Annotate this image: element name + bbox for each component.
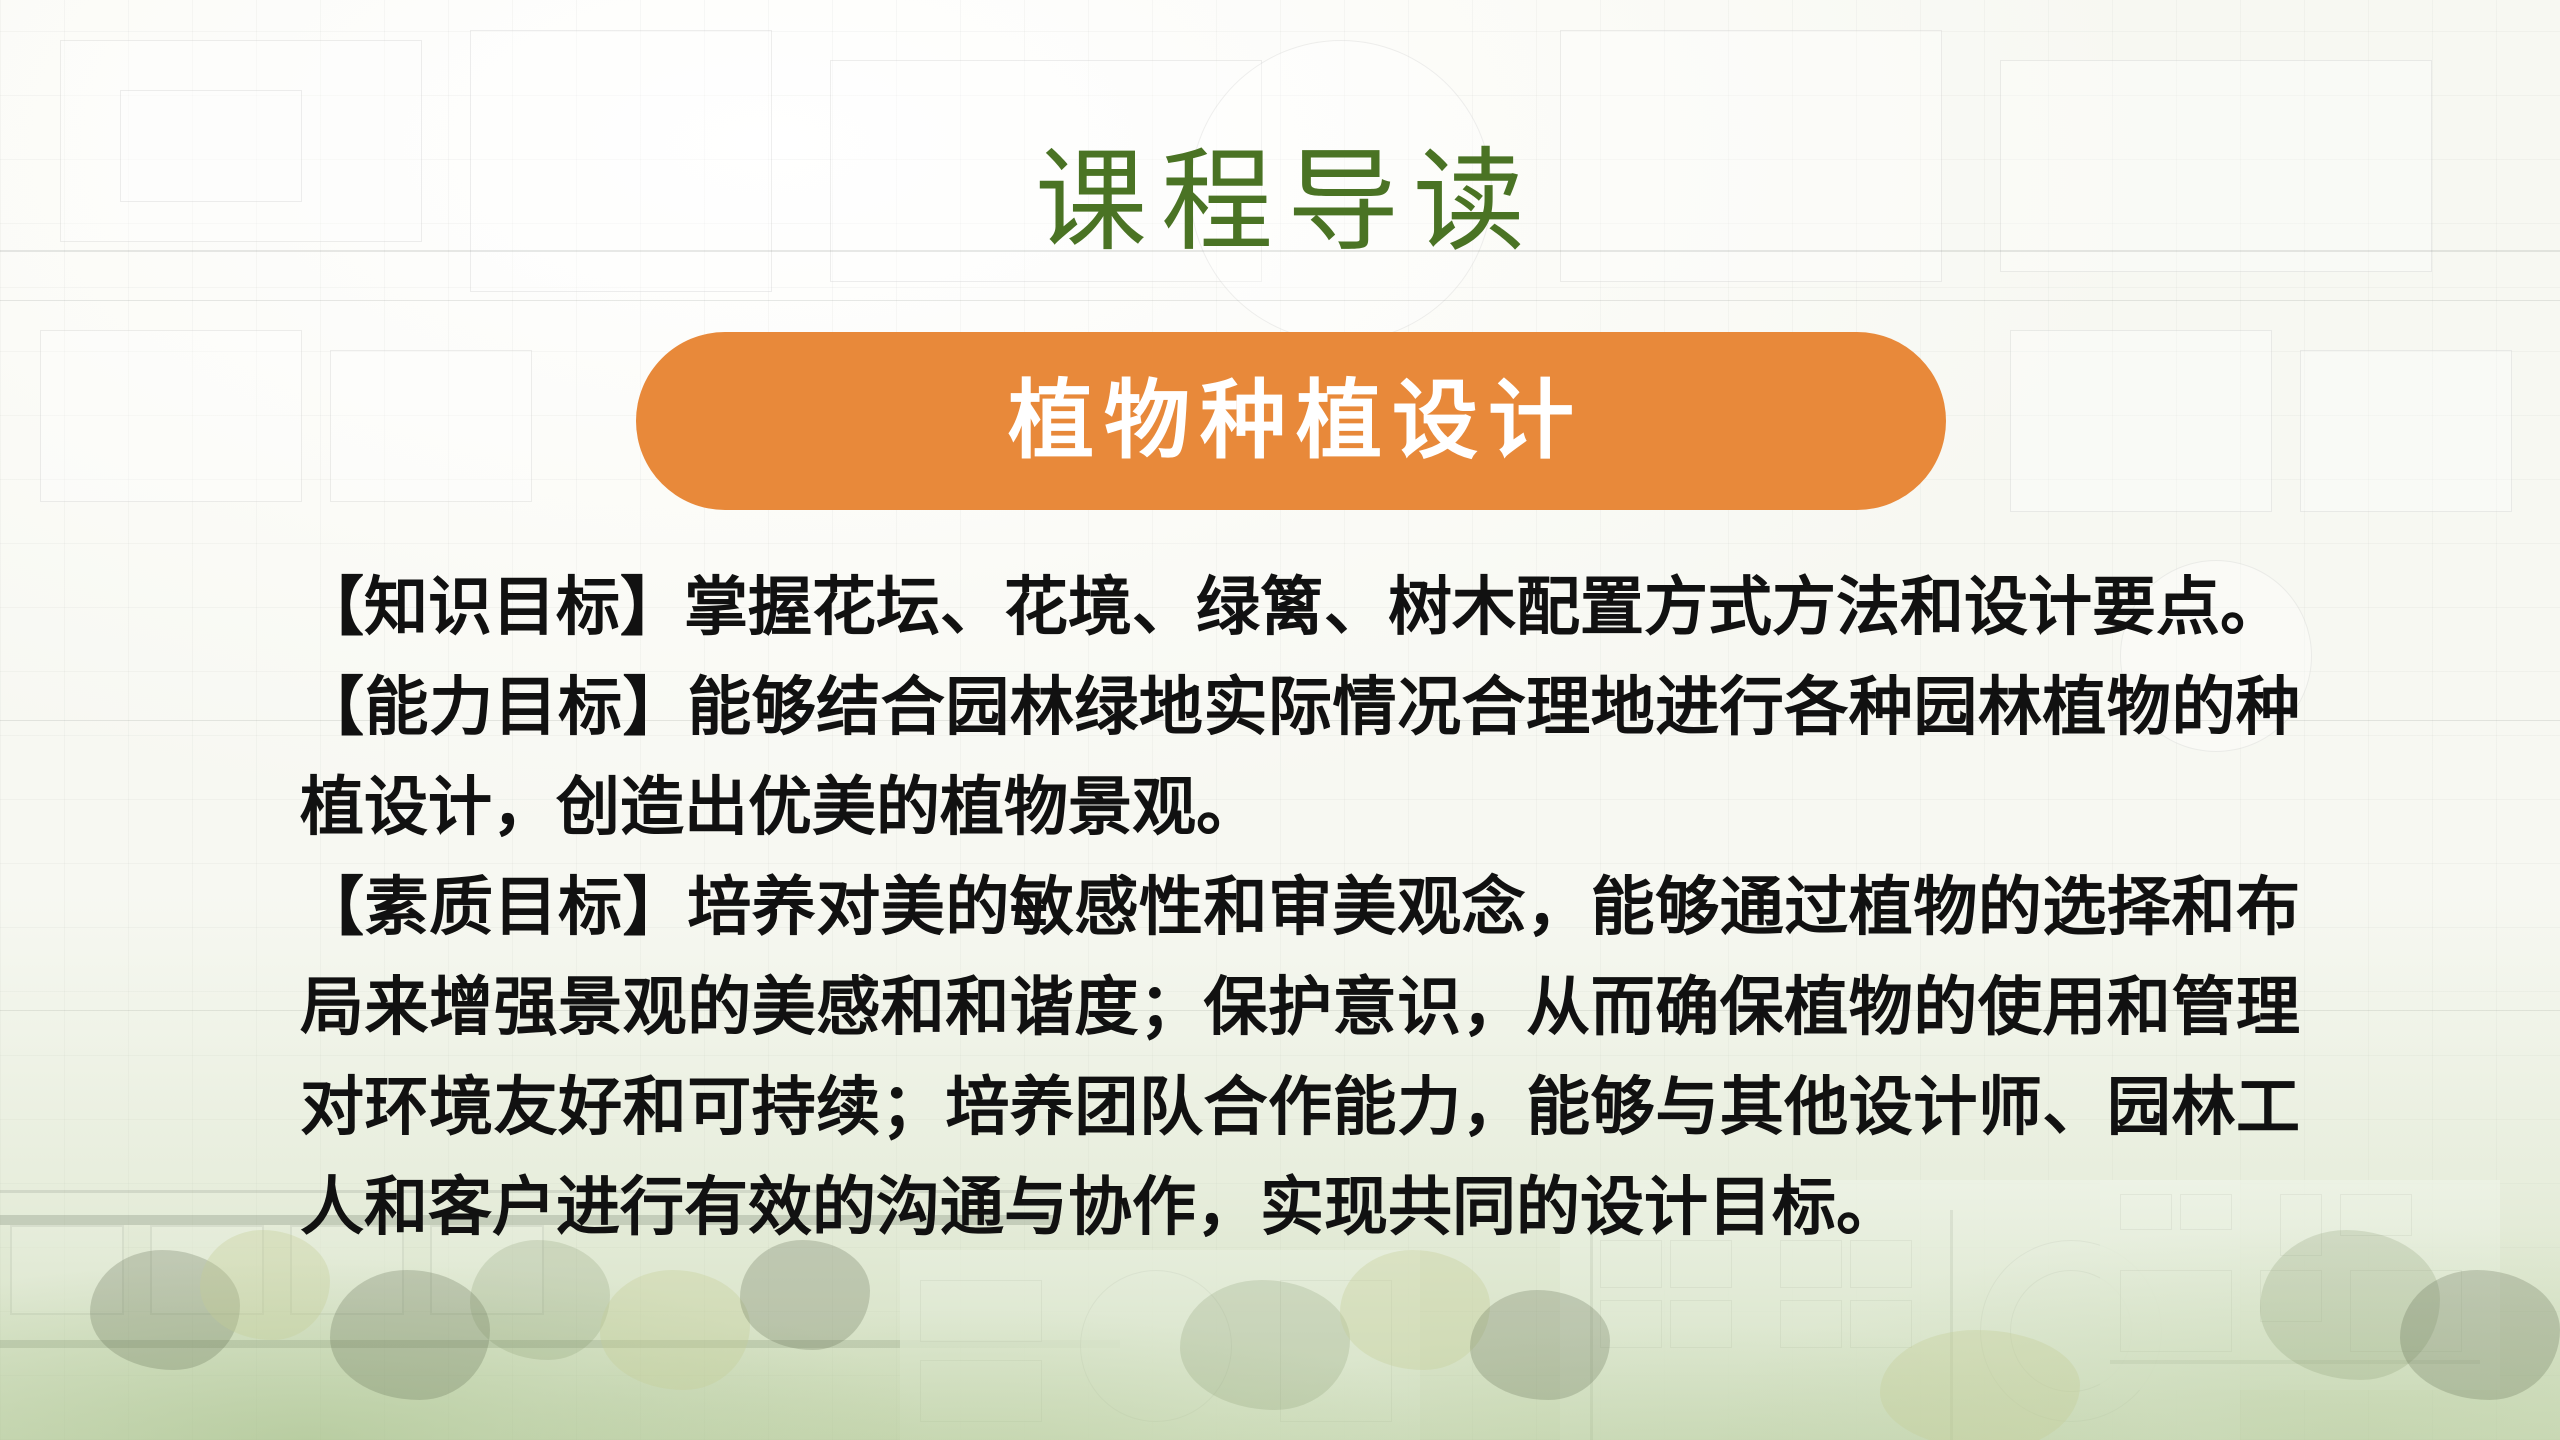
subject-pill-label: 植物种植设计 <box>998 378 1584 464</box>
objective-knowledge: 【知识目标】掌握花坛、花境、绿篱、树木配置方式方法和设计要点。 <box>300 558 2300 658</box>
slide: 课程导读 植物种植设计 【知识目标】掌握花坛、花境、绿篱、树木配置方式方法和设计… <box>0 0 2560 1440</box>
subject-pill: 植物种植设计 <box>636 332 1946 510</box>
objective-quality: 【素质目标】培养对美的敏感性和审美观念，能够通过植物的选择和布局来增强景观的美感… <box>300 858 2300 1258</box>
objectives-list: 【知识目标】掌握花坛、花境、绿篱、树木配置方式方法和设计要点。 【能力目标】能够… <box>300 558 2300 1258</box>
objective-ability: 【能力目标】能够结合园林绿地实际情况合理地进行各种园林植物的种植设计，创造出优美… <box>300 658 2300 858</box>
slide-content: 课程导读 植物种植设计 【知识目标】掌握花坛、花境、绿篱、树木配置方式方法和设计… <box>0 0 2560 1440</box>
page-title: 课程导读 <box>0 146 2560 258</box>
